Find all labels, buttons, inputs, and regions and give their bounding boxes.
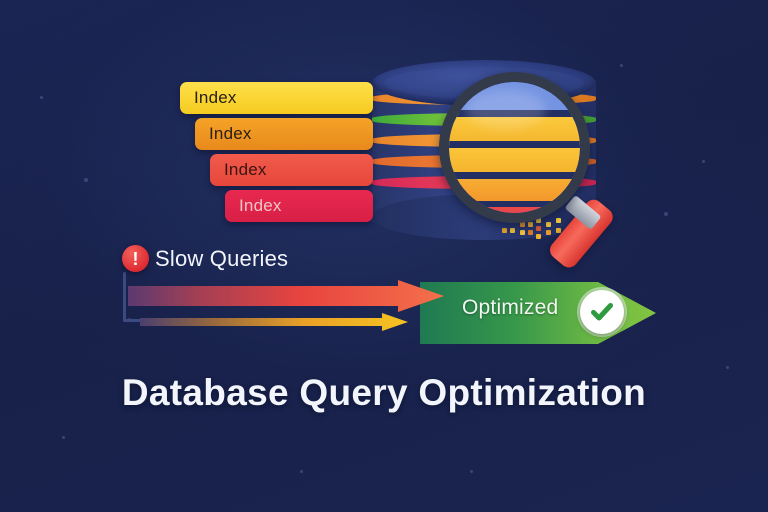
secondary-query-arrow xyxy=(140,313,408,331)
index-bar[interactable]: Index xyxy=(210,154,373,186)
magnifying-glass-icon xyxy=(439,72,655,248)
flow-connector-line xyxy=(123,272,126,322)
illustration-canvas: Index Index Index Index xyxy=(0,0,768,512)
index-bar-label: Index xyxy=(224,160,267,180)
slow-queries-label: Slow Queries xyxy=(155,246,288,272)
magnifier-lens-content xyxy=(449,82,580,213)
page-title: Database Query Optimization xyxy=(0,372,768,414)
check-circle-icon xyxy=(580,290,624,334)
alert-glyph: ! xyxy=(133,250,139,268)
magnifier-lens xyxy=(439,72,590,223)
index-bar[interactable]: Index xyxy=(195,118,373,150)
index-bar-label: Index xyxy=(194,88,237,108)
optimized-label: Optimized xyxy=(462,296,558,320)
index-bar[interactable]: Index xyxy=(225,190,373,222)
alert-exclamation-icon: ! xyxy=(122,245,149,272)
slow-queries-arrow xyxy=(128,280,444,312)
index-bar-label: Index xyxy=(239,196,282,216)
index-bar-label: Index xyxy=(209,124,252,144)
index-bar[interactable]: Index xyxy=(180,82,373,114)
lens-gloss xyxy=(465,90,546,129)
